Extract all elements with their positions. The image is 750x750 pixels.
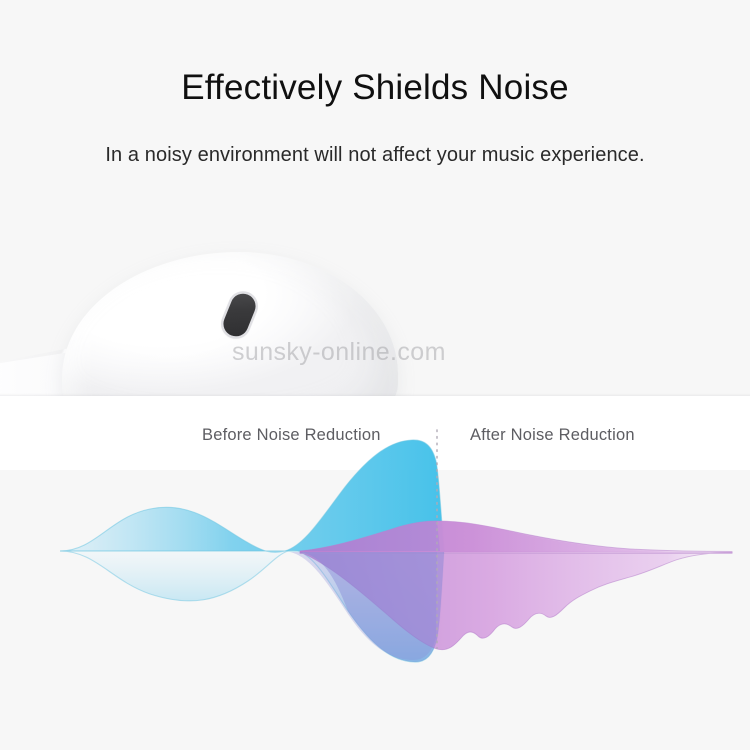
- noise-reduction-chart: Before Noise Reduction After Noise Reduc…: [0, 405, 750, 695]
- chart-label-after: After Noise Reduction: [470, 426, 635, 445]
- page-title: Effectively Shields Noise: [0, 68, 750, 108]
- page-subtitle: In a noisy environment will not affect y…: [0, 144, 750, 167]
- promo-page: Effectively Shields Noise In a noisy env…: [0, 0, 750, 750]
- waveform-svg: [0, 405, 750, 695]
- watermark-text: sunsky-online.com: [232, 338, 446, 367]
- chart-label-before: Before Noise Reduction: [202, 426, 381, 445]
